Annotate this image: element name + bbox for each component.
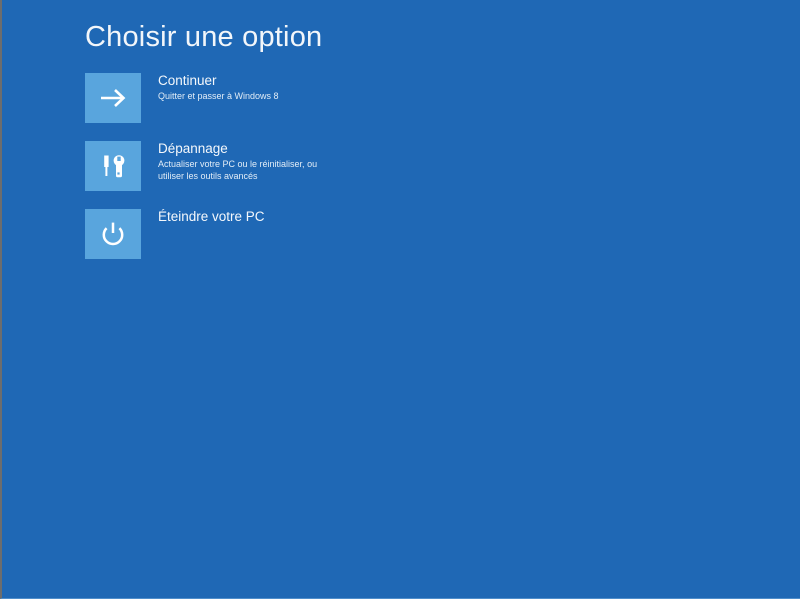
option-eteindre[interactable]: Éteindre votre PC: [85, 209, 505, 259]
arrow-right-icon: [98, 87, 128, 109]
option-description-line: Quitter et passer à Windows 8: [158, 91, 505, 103]
option-text-continuer: Continuer Quitter et passer à Windows 8: [141, 73, 505, 103]
option-label: Dépannage: [158, 141, 505, 157]
option-text-eteindre: Éteindre votre PC: [141, 209, 505, 225]
option-description: Quitter et passer à Windows 8: [158, 91, 505, 103]
option-continuer[interactable]: Continuer Quitter et passer à Windows 8: [85, 73, 505, 123]
power-icon: [98, 219, 128, 249]
options-list: Continuer Quitter et passer à Windows 8: [85, 73, 685, 277]
option-description: Actualiser votre PC ou le réinitialiser,…: [158, 159, 505, 182]
option-description-line: Actualiser votre PC ou le réinitialiser,…: [158, 159, 505, 171]
page-title: Choisir une option: [85, 21, 322, 54]
tools-icon: [98, 151, 128, 181]
recovery-options-screen: Choisir une option Continuer Quitter et …: [0, 0, 800, 599]
option-tile-depannage[interactable]: [85, 141, 141, 191]
option-description-line: utiliser les outils avancés: [158, 171, 505, 183]
option-tile-continuer[interactable]: [85, 73, 141, 123]
option-tile-eteindre[interactable]: [85, 209, 141, 259]
option-depannage[interactable]: Dépannage Actualiser votre PC ou le réin…: [85, 141, 505, 191]
option-text-depannage: Dépannage Actualiser votre PC ou le réin…: [141, 141, 505, 182]
option-label: Éteindre votre PC: [158, 209, 505, 225]
option-label: Continuer: [158, 73, 505, 89]
